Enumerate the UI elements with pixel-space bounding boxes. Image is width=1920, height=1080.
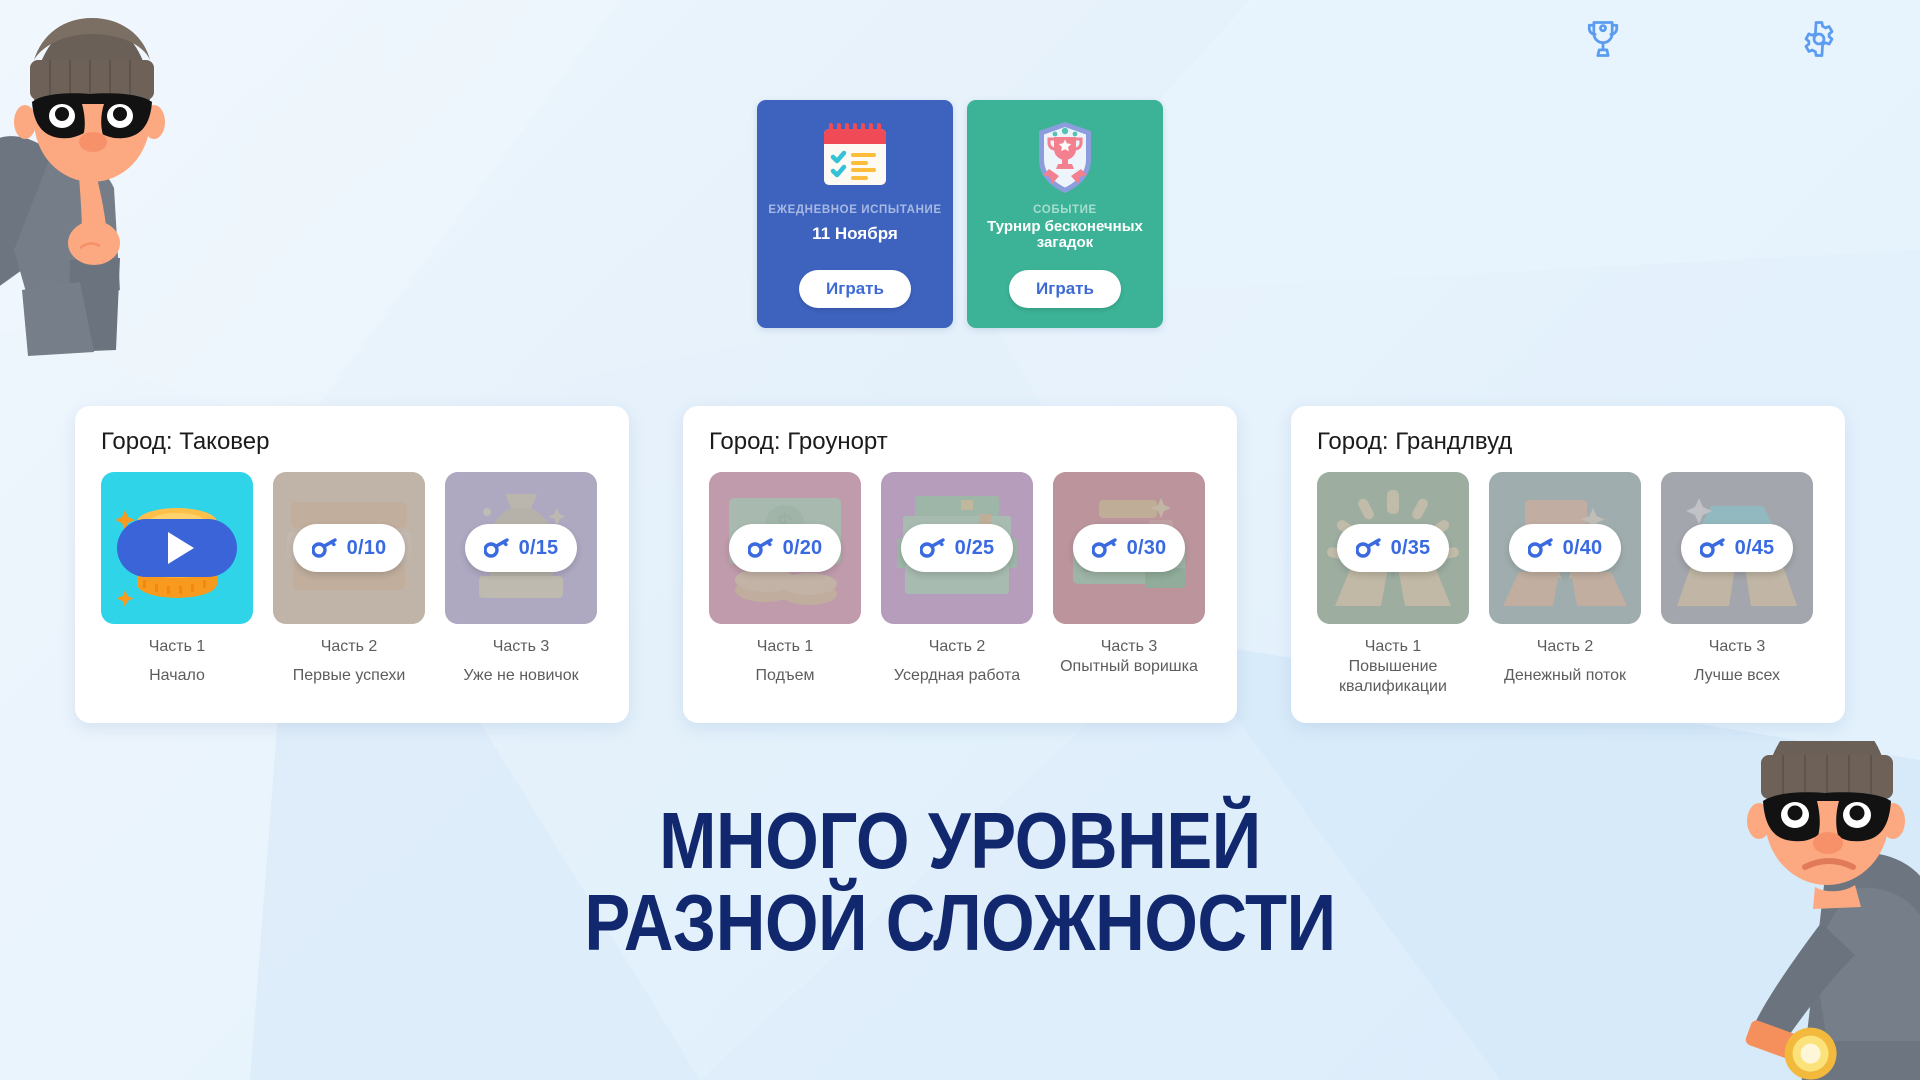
part-number: Часть 1 — [1365, 637, 1422, 657]
promo-card-row: ЕЖЕДНЕВНОЕ ИСПЫТАНИЕ 11 Ноября Играть — [757, 100, 1163, 328]
part-name: Первые успехи — [293, 666, 406, 686]
part-tile-locked[interactable]: 0/45 — [1661, 472, 1813, 624]
part-tile-locked[interactable]: 0/10 — [273, 472, 425, 624]
part-tile-locked[interactable]: 0/15 — [445, 472, 597, 624]
key-icon — [484, 538, 510, 558]
promo-title: 11 Ноября — [812, 225, 898, 243]
key-progress-badge: 0/40 — [1509, 524, 1621, 572]
part-item: 0/30 Часть 3 Опытный воришка — [1053, 472, 1205, 686]
city-title: Город: Таковер — [101, 428, 603, 456]
part-item: 0/35 Часть 1 Повышение квалификации — [1317, 472, 1469, 697]
part-number: Часть 3 — [493, 637, 550, 657]
part-item: 0/45 Часть 3 Лучше всех — [1661, 472, 1813, 697]
key-icon — [1700, 538, 1726, 558]
part-item: 0/40 Часть 2 Денежный поток — [1489, 472, 1641, 697]
headline-line-1: МНОГО УРОВНЕЙ — [134, 800, 1785, 882]
promo-kicker: ЕЖЕДНЕВНОЕ ИСПЫТАНИЕ — [768, 204, 941, 217]
part-tile-locked[interactable]: 0/40 — [1489, 472, 1641, 624]
key-icon — [1528, 538, 1554, 558]
part-item: 0/10 Часть 2 Первые успехи — [273, 472, 425, 686]
key-icon — [920, 538, 946, 558]
key-icon — [1356, 538, 1382, 558]
city-card-row: Город: Таковер — [75, 406, 1845, 723]
key-count: 0/40 — [1563, 537, 1603, 560]
play-button-daily[interactable]: Играть — [799, 270, 911, 308]
top-icon-bar — [0, 0, 1920, 78]
part-list: 0/35 Часть 1 Повышение квалификации — [1317, 472, 1819, 697]
part-name: Усердная работа — [894, 666, 1020, 686]
part-name: Уже не новичок — [463, 666, 578, 686]
key-progress-badge: 0/35 — [1337, 524, 1449, 572]
shield-trophy-icon — [1029, 118, 1101, 196]
key-count: 0/45 — [1735, 537, 1775, 560]
key-count: 0/15 — [519, 537, 559, 560]
promo-kicker: СОБЫТИЕ — [1033, 204, 1097, 217]
city-card: Город: Грандлвуд — [1291, 406, 1845, 723]
key-count: 0/25 — [955, 537, 995, 560]
key-icon — [748, 538, 774, 558]
key-progress-badge: 0/45 — [1681, 524, 1793, 572]
part-name: Подъем — [756, 666, 815, 686]
part-list: Часть 1 Начало — [101, 472, 603, 686]
part-number: Часть 2 — [929, 637, 986, 657]
part-tile-locked[interactable]: 0/35 — [1317, 472, 1469, 624]
key-progress-badge: 0/25 — [901, 524, 1013, 572]
part-number: Часть 2 — [321, 637, 378, 657]
part-number: Часть 1 — [757, 637, 814, 657]
key-count: 0/35 — [1391, 537, 1431, 560]
key-icon — [312, 538, 338, 558]
app-root: ЕЖЕДНЕВНОЕ ИСПЫТАНИЕ 11 Ноября Играть — [0, 0, 1920, 1080]
play-button-event[interactable]: Играть — [1009, 270, 1121, 308]
part-number: Часть 3 — [1709, 637, 1766, 657]
part-list: $ 0/20 — [709, 472, 1211, 686]
part-name: Денежный поток — [1504, 666, 1626, 686]
promo-title: Турнир бесконечных загадок — [967, 219, 1163, 251]
key-icon — [1092, 538, 1118, 558]
key-progress-badge: 0/10 — [293, 524, 405, 572]
part-tile-locked[interactable]: 0/30 — [1053, 472, 1205, 624]
city-card: Город: Таковер — [75, 406, 629, 723]
key-count: 0/10 — [347, 537, 387, 560]
part-item: $ 0/20 — [709, 472, 861, 686]
part-item: Часть 1 Начало — [101, 472, 253, 686]
calendar-checklist-icon — [818, 118, 892, 196]
play-icon[interactable] — [117, 519, 237, 577]
part-name: Лучше всех — [1694, 666, 1780, 686]
city-title: Город: Гроунорт — [709, 428, 1211, 456]
part-name: Опытный воришка — [1060, 657, 1198, 677]
headline: МНОГО УРОВНЕЙ РАЗНОЙ СЛОЖНОСТИ — [134, 800, 1785, 963]
part-item: 0/15 Часть 3 Уже не новичок — [445, 472, 597, 686]
promo-card-daily-challenge[interactable]: ЕЖЕДНЕВНОЕ ИСПЫТАНИЕ 11 Ноября Играть — [757, 100, 953, 328]
headline-line-2: РАЗНОЙ СЛОЖНОСТИ — [134, 882, 1785, 964]
gear-icon[interactable] — [1796, 16, 1842, 62]
part-number: Часть 2 — [1537, 637, 1594, 657]
key-progress-badge: 0/20 — [729, 524, 841, 572]
part-item: 0/25 Часть 2 Усердная работа — [881, 472, 1033, 686]
part-name: Повышение квалификации — [1317, 657, 1469, 697]
part-name: Начало — [149, 666, 205, 686]
part-number: Часть 1 — [149, 637, 206, 657]
key-progress-badge: 0/30 — [1073, 524, 1185, 572]
part-tile-locked[interactable]: $ 0/20 — [709, 472, 861, 624]
city-card: Город: Гроунорт $ — [683, 406, 1237, 723]
key-count: 0/30 — [1127, 537, 1167, 560]
part-tile-unlocked[interactable] — [101, 472, 253, 624]
part-number: Часть 3 — [1101, 637, 1158, 657]
city-title: Город: Грандлвуд — [1317, 428, 1819, 456]
trophy-icon[interactable] — [1580, 16, 1626, 62]
key-progress-badge: 0/15 — [465, 524, 577, 572]
promo-card-event[interactable]: СОБЫТИЕ Турнир бесконечных загадок Играт… — [967, 100, 1163, 328]
part-tile-locked[interactable]: 0/25 — [881, 472, 1033, 624]
key-count: 0/20 — [783, 537, 823, 560]
